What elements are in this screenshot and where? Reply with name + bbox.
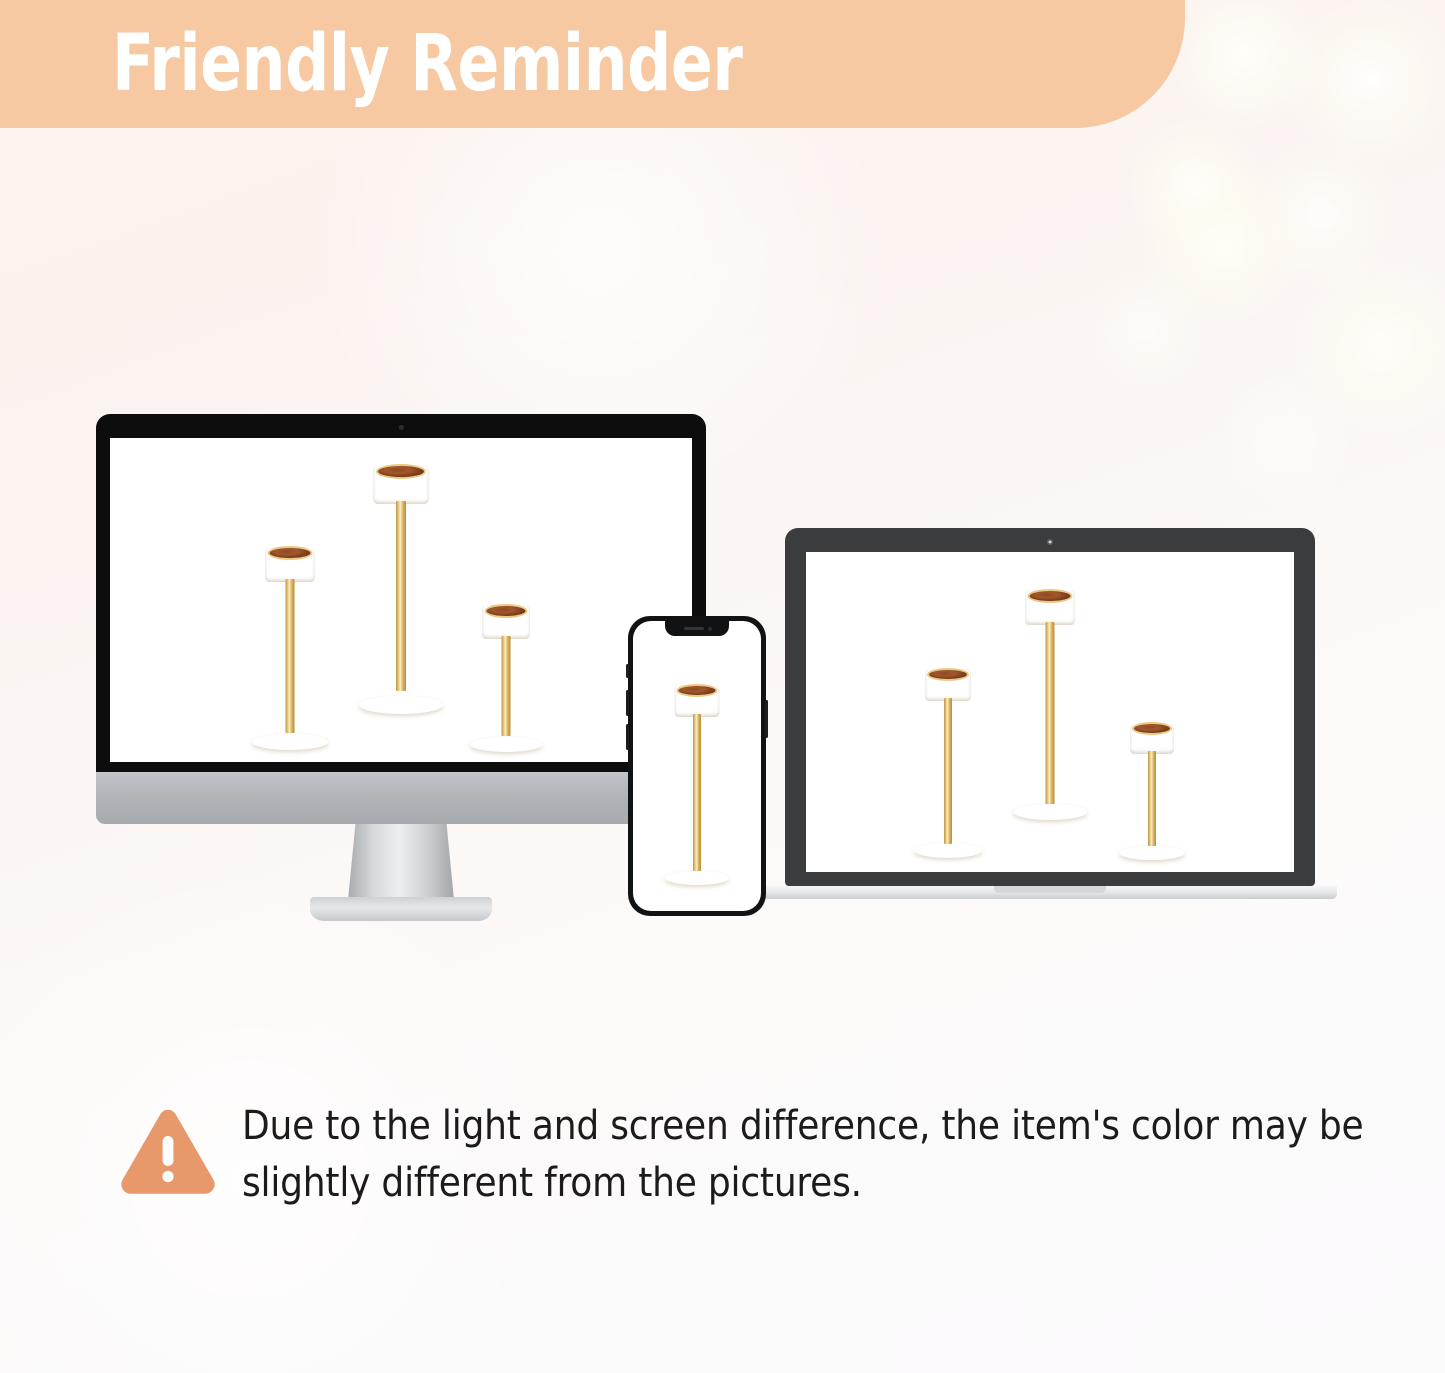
- candle-holder-medium: [252, 547, 328, 750]
- candle-cup-interior: [1030, 591, 1071, 601]
- laptop-lid: [785, 528, 1315, 886]
- candle-holder-medium: [914, 669, 982, 858]
- phone-power-button[interactable]: [765, 700, 768, 738]
- candle-cup-interior: [929, 670, 967, 679]
- candle-base: [1119, 846, 1185, 860]
- header-banner: Friendly Reminder: [0, 0, 1185, 128]
- front-camera-icon: [708, 627, 712, 631]
- candle-holder-tall: [359, 465, 443, 714]
- candle-stem: [501, 636, 510, 736]
- laptop-trackpad-notch: [994, 886, 1106, 893]
- monitor-screen: [110, 438, 692, 762]
- warning-triangle-icon: [120, 1108, 216, 1196]
- disclaimer-text: Due to the light and screen difference, …: [242, 1098, 1370, 1212]
- candle-holder-tall: [665, 685, 729, 885]
- disclaimer-note: Due to the light and screen difference, …: [120, 1098, 1370, 1212]
- smartphone: [628, 616, 766, 916]
- candle-base: [359, 696, 443, 714]
- candle-cup-interior: [679, 686, 716, 695]
- candle-stem: [286, 579, 295, 733]
- monitor-stand-neck: [348, 824, 454, 900]
- laptop: [785, 528, 1315, 886]
- candle-base: [665, 871, 729, 885]
- warning-triangle-svg: [120, 1108, 216, 1196]
- candle-cup-interior: [378, 466, 424, 477]
- candle-stem: [396, 501, 406, 691]
- page-background: Friendly Reminder: [0, 0, 1445, 1373]
- candle-base: [252, 734, 328, 750]
- candle-base: [470, 737, 542, 752]
- candle-stem: [944, 698, 952, 844]
- candle-stem: [1046, 622, 1055, 804]
- phone-volume-down-button[interactable]: [626, 724, 629, 750]
- page-title: Friendly Reminder: [112, 25, 742, 103]
- monitor-bezel: [96, 414, 706, 772]
- phone-notch: [665, 621, 729, 636]
- monitor-stand-foot: [310, 897, 492, 921]
- candle-holder-tall: [1013, 590, 1087, 820]
- candle-cup-interior: [486, 606, 525, 616]
- candle-base: [1013, 804, 1087, 820]
- monitor-chin: [96, 772, 706, 824]
- phone-mute-switch[interactable]: [626, 664, 629, 678]
- candle-cup-interior: [1134, 724, 1170, 733]
- camera-dot-icon: [399, 425, 404, 430]
- candle-holder-short: [1119, 723, 1185, 860]
- candle-cup-interior: [270, 548, 311, 558]
- candle-stem: [1148, 751, 1156, 846]
- desktop-monitor: [96, 414, 706, 824]
- laptop-screen: [806, 552, 1294, 872]
- candle-base: [914, 843, 982, 858]
- candle-holder-short: [470, 605, 542, 752]
- speaker-grille-icon: [684, 627, 704, 630]
- candle-stem: [693, 714, 701, 871]
- phone-volume-up-button[interactable]: [626, 690, 629, 716]
- phone-screen: [633, 621, 761, 911]
- camera-dot-icon: [1047, 539, 1053, 545]
